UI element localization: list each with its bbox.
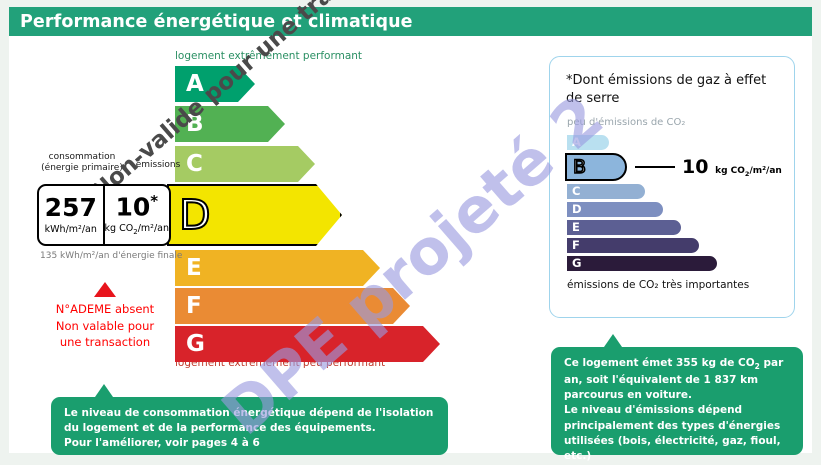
co2-bar-e: E — [567, 220, 681, 235]
band-letter-a: A — [175, 73, 204, 96]
consumption-value: 257 — [45, 195, 97, 220]
warning-line-3: une transaction — [30, 334, 180, 351]
callout-right-pointer — [604, 334, 622, 347]
co2-row-d: D — [567, 202, 782, 217]
warning-line-2: Non valable pour — [30, 318, 180, 335]
ladder-caption-top: logement extrêmement performant — [175, 50, 362, 62]
co2-leader-line — [635, 166, 675, 168]
energy-ladder: logement extrêmement performant logement… — [0, 0, 530, 465]
co2-letter-c: C — [567, 186, 580, 198]
emissions-unit: kg CO2/m²/an — [105, 223, 169, 236]
warning-triangle-icon — [94, 282, 116, 297]
emissions-number: 10 — [115, 192, 150, 221]
co2-letter-b: B — [567, 156, 586, 178]
callout-right-pre: Ce logement émet 355 kg de CO — [564, 357, 755, 369]
energy-band-e: E — [175, 250, 380, 286]
consumption-unit: kWh/m²/an — [45, 224, 97, 235]
co2-row-b-current: B 10 kg CO2/m²/an — [567, 153, 782, 181]
consumption-label: consommation (énergie primaire) — [38, 152, 126, 175]
co2-bar-g: G — [567, 256, 717, 271]
band-shape-a: A — [175, 66, 255, 102]
callout-right-line-1: Ce logement émet 355 kg de CO2 par an, s… — [564, 356, 790, 403]
final-energy-note: 135 kWh/m²/an d'énergie finale — [40, 250, 182, 262]
co2-letter-d: D — [567, 204, 582, 216]
callout-left-line-2: Pour l'améliorer, voir pages 4 à 6 — [64, 436, 435, 451]
band-shape-b: B — [175, 106, 285, 142]
co2-value-unit: kg CO2/m²/an — [715, 166, 782, 176]
co2-letter-f: F — [567, 240, 580, 252]
emissions-unit-pre: kg CO — [105, 223, 134, 234]
band-shape-c: C — [175, 146, 315, 182]
emissions-value: 10* — [115, 194, 158, 219]
warning-line-1: N°ADEME absent — [30, 301, 180, 318]
dpe-page: Performance énergétique et climatique lo… — [0, 0, 821, 465]
energy-band-c: C — [175, 146, 315, 182]
emissions-cell: 10* kg CO2/m²/an — [105, 186, 169, 244]
consumption-cell: 257 kWh/m²/an — [39, 186, 105, 244]
co2-panel: *Dont émissions de gaz à effet de serre … — [549, 56, 795, 318]
band-letter-b: B — [175, 113, 204, 136]
co2-bar-a: A — [567, 135, 609, 150]
co2-row-a: A — [567, 135, 782, 150]
band-shape-f: F — [175, 288, 410, 324]
co2-unit-post: /m²/an — [749, 166, 781, 176]
band-shape-d: D — [167, 184, 342, 246]
co2-letter-g: G — [567, 258, 581, 270]
callout-emissions: Ce logement émet 355 kg de CO2 par an, s… — [551, 347, 803, 455]
callout-consumption: Le niveau de consommation énergétique dé… — [51, 397, 448, 455]
co2-letter-a: A — [567, 137, 581, 149]
callout-right-line-2: Le niveau d'émissions dépend principalem… — [564, 403, 790, 464]
co2-panel-title: *Dont émissions de gaz à effet de serre — [566, 72, 781, 107]
emissions-unit-post: /m²/an — [138, 223, 169, 234]
co2-value-number: 10 — [682, 156, 708, 178]
ademe-warning: N°ADEME absent Non valable pour une tran… — [30, 282, 180, 351]
emissions-asterisk: * — [150, 192, 158, 210]
band-shape-e: E — [175, 250, 380, 286]
co2-unit-pre: kg CO — [715, 166, 745, 176]
energy-band-d-current: D — [167, 184, 342, 246]
energy-band-f: F — [175, 288, 410, 324]
value-box: 257 kWh/m²/an 10* kg CO2/m²/an — [37, 184, 171, 246]
emissions-label: émissions — [128, 160, 188, 171]
co2-scale-bottom-label: émissions de CO₂ très importantes — [567, 278, 749, 292]
energy-band-g: G — [175, 326, 440, 362]
band-shape-g: G — [175, 326, 440, 362]
co2-scale: A B 10 kg CO2/m²/an C D — [567, 135, 782, 274]
band-letter-d: D — [169, 195, 211, 236]
co2-bar-b: B — [565, 153, 627, 181]
co2-bar-c: C — [567, 184, 645, 199]
co2-row-c: C — [567, 184, 782, 199]
energy-band-a: A — [175, 66, 255, 102]
co2-value: 10 kg CO2/m²/an — [682, 156, 782, 178]
co2-bar-d: D — [567, 202, 663, 217]
co2-row-g: G — [567, 256, 782, 271]
co2-row-f: F — [567, 238, 782, 253]
callout-left-pointer — [95, 384, 113, 397]
co2-row-e: E — [567, 220, 782, 235]
energy-band-b: B — [175, 106, 285, 142]
co2-letter-e: E — [567, 222, 580, 234]
co2-bar-f: F — [567, 238, 699, 253]
callout-left-line-1: Le niveau de consommation énergétique dé… — [64, 406, 435, 436]
co2-scale-top-label: peu d'émissions de CO₂ — [567, 117, 685, 128]
